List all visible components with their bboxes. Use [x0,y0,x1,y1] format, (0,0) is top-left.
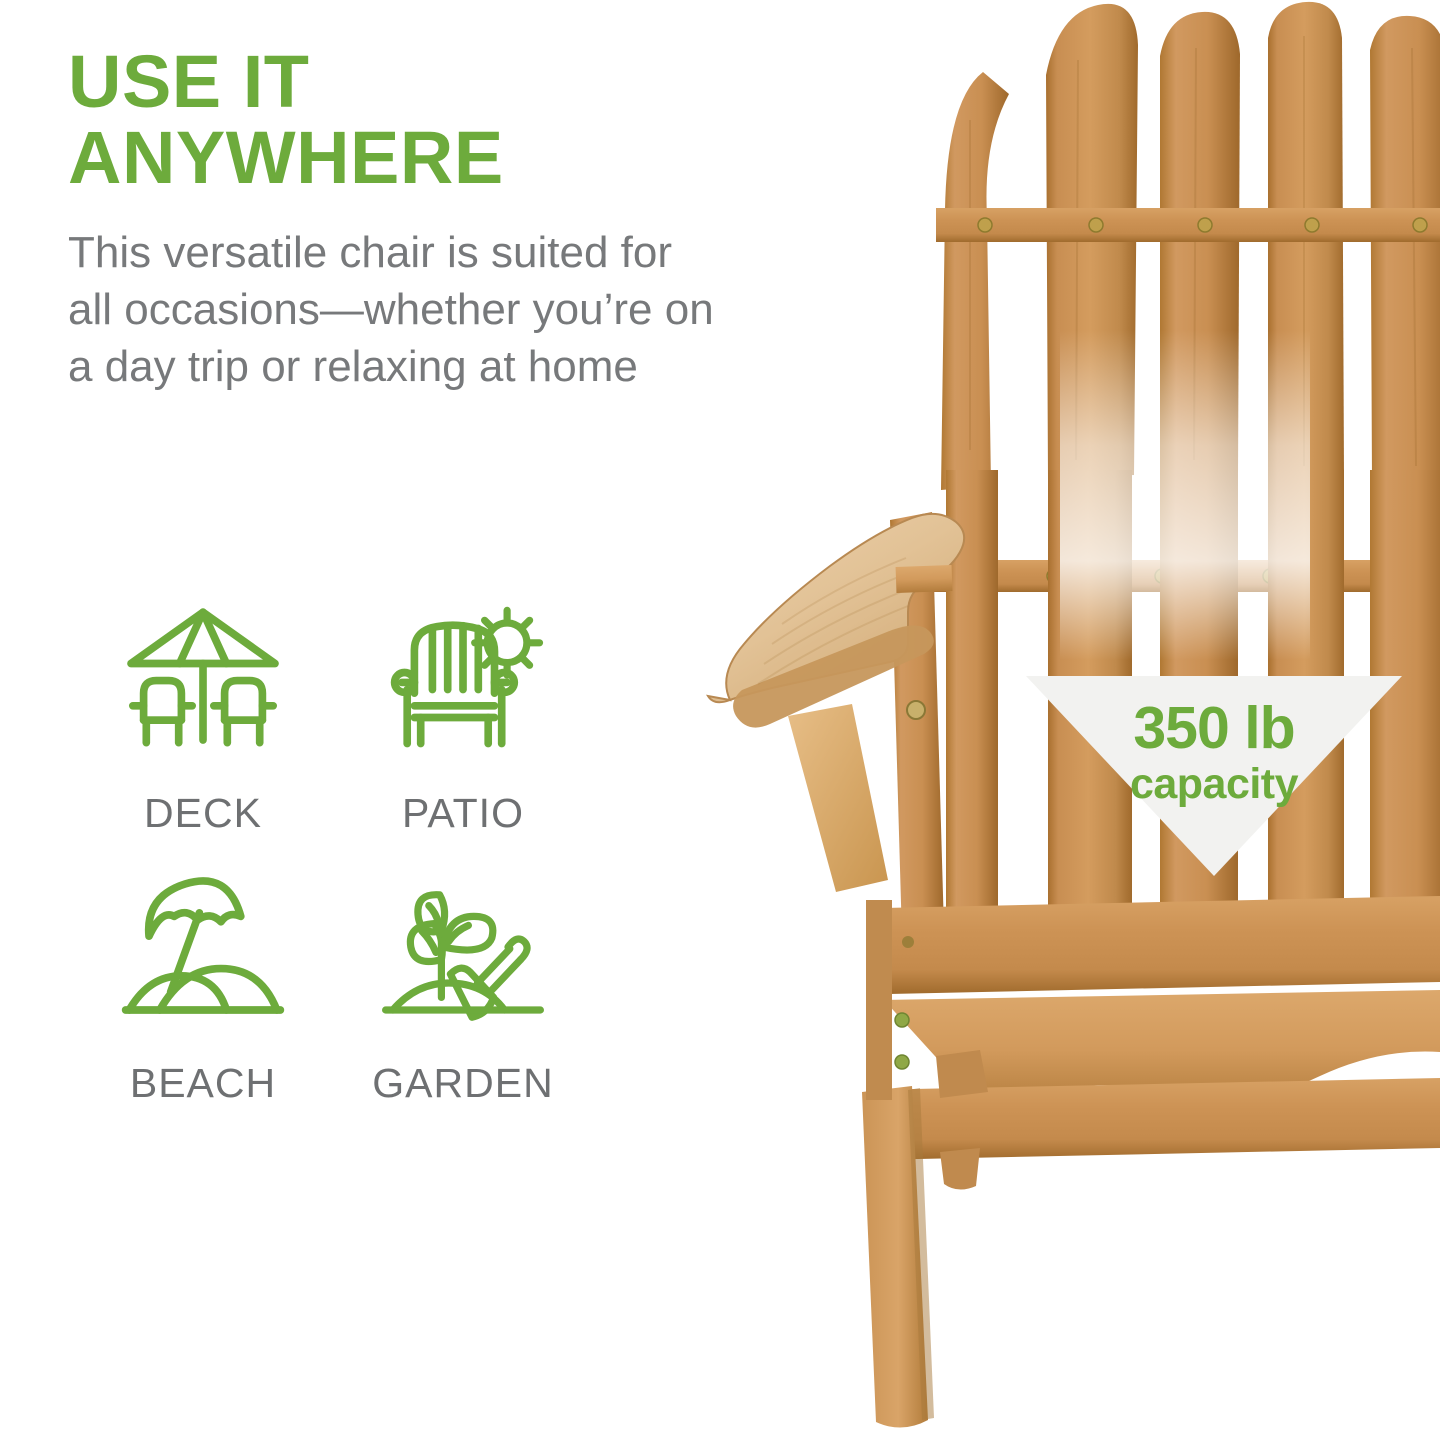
chair-upper-cross-rail [936,208,1440,242]
chair-seat-back-rail [886,896,1440,994]
deck-umbrella-chairs-icon [113,596,293,776]
use-case-icon-grid: DECK [68,596,588,1136]
apron-joint-block [936,1050,988,1098]
stretcher-tab [940,1148,980,1190]
beach-umbrella-sand-icon [113,866,293,1046]
feature-item-beach: BEACH [68,866,338,1136]
garden-plant-trowel-icon [373,866,553,1046]
highlight-glow [1060,330,1310,660]
feature-label-beach: BEACH [130,1060,276,1107]
feature-item-patio: PATIO [338,596,588,866]
feature-item-garden: GARDEN [338,866,588,1136]
capacity-badge: 350 lb capacity [1026,676,1402,876]
feature-label-patio: PATIO [402,790,524,837]
feature-label-garden: GARDEN [372,1060,553,1107]
armrest-bolt [907,701,925,719]
marketing-image-canvas: USE IT ANYWHERE This versatile chair is … [0,0,1440,1440]
armrest-support-wedge [788,704,888,892]
feature-label-deck: DECK [144,790,262,837]
chair-arm-strut [896,565,953,593]
chair-rear-post [866,900,892,1100]
patio-adirondack-chair-sun-icon [373,596,553,776]
triangle-down-shape-icon [1026,676,1402,876]
feature-item-deck: DECK [68,596,338,866]
